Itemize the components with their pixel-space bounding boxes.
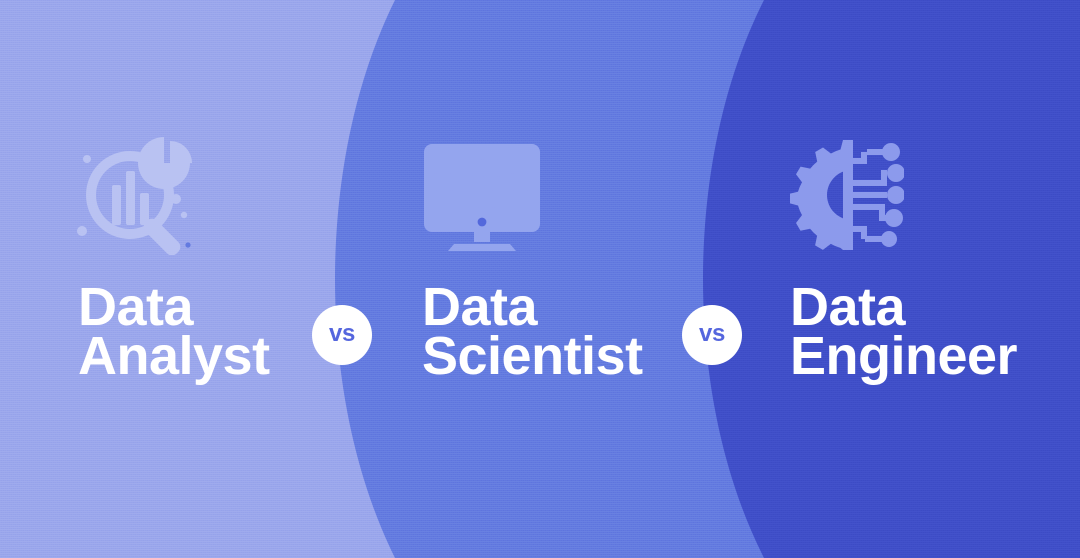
role-title-data-analyst: Data Analyst <box>78 283 270 381</box>
role-title-data-engineer: Data Engineer <box>790 283 1017 381</box>
vs-badge-1-label: vs <box>329 322 355 346</box>
vs-badge-2: vs <box>682 305 742 365</box>
content-layer: Data Analyst vs <box>0 0 1080 558</box>
gear-circuit-nodes-icon <box>790 140 904 250</box>
magnifier-bar-chart-pie-icon <box>76 137 200 255</box>
monitor-flow-diagram-icon <box>424 140 540 252</box>
vs-badge-2-label: vs <box>699 322 725 346</box>
role-title-data-scientist: Data Scientist <box>422 283 643 381</box>
banner-canvas: Data Analyst vs <box>0 0 1080 558</box>
vs-badge-1: vs <box>312 305 372 365</box>
